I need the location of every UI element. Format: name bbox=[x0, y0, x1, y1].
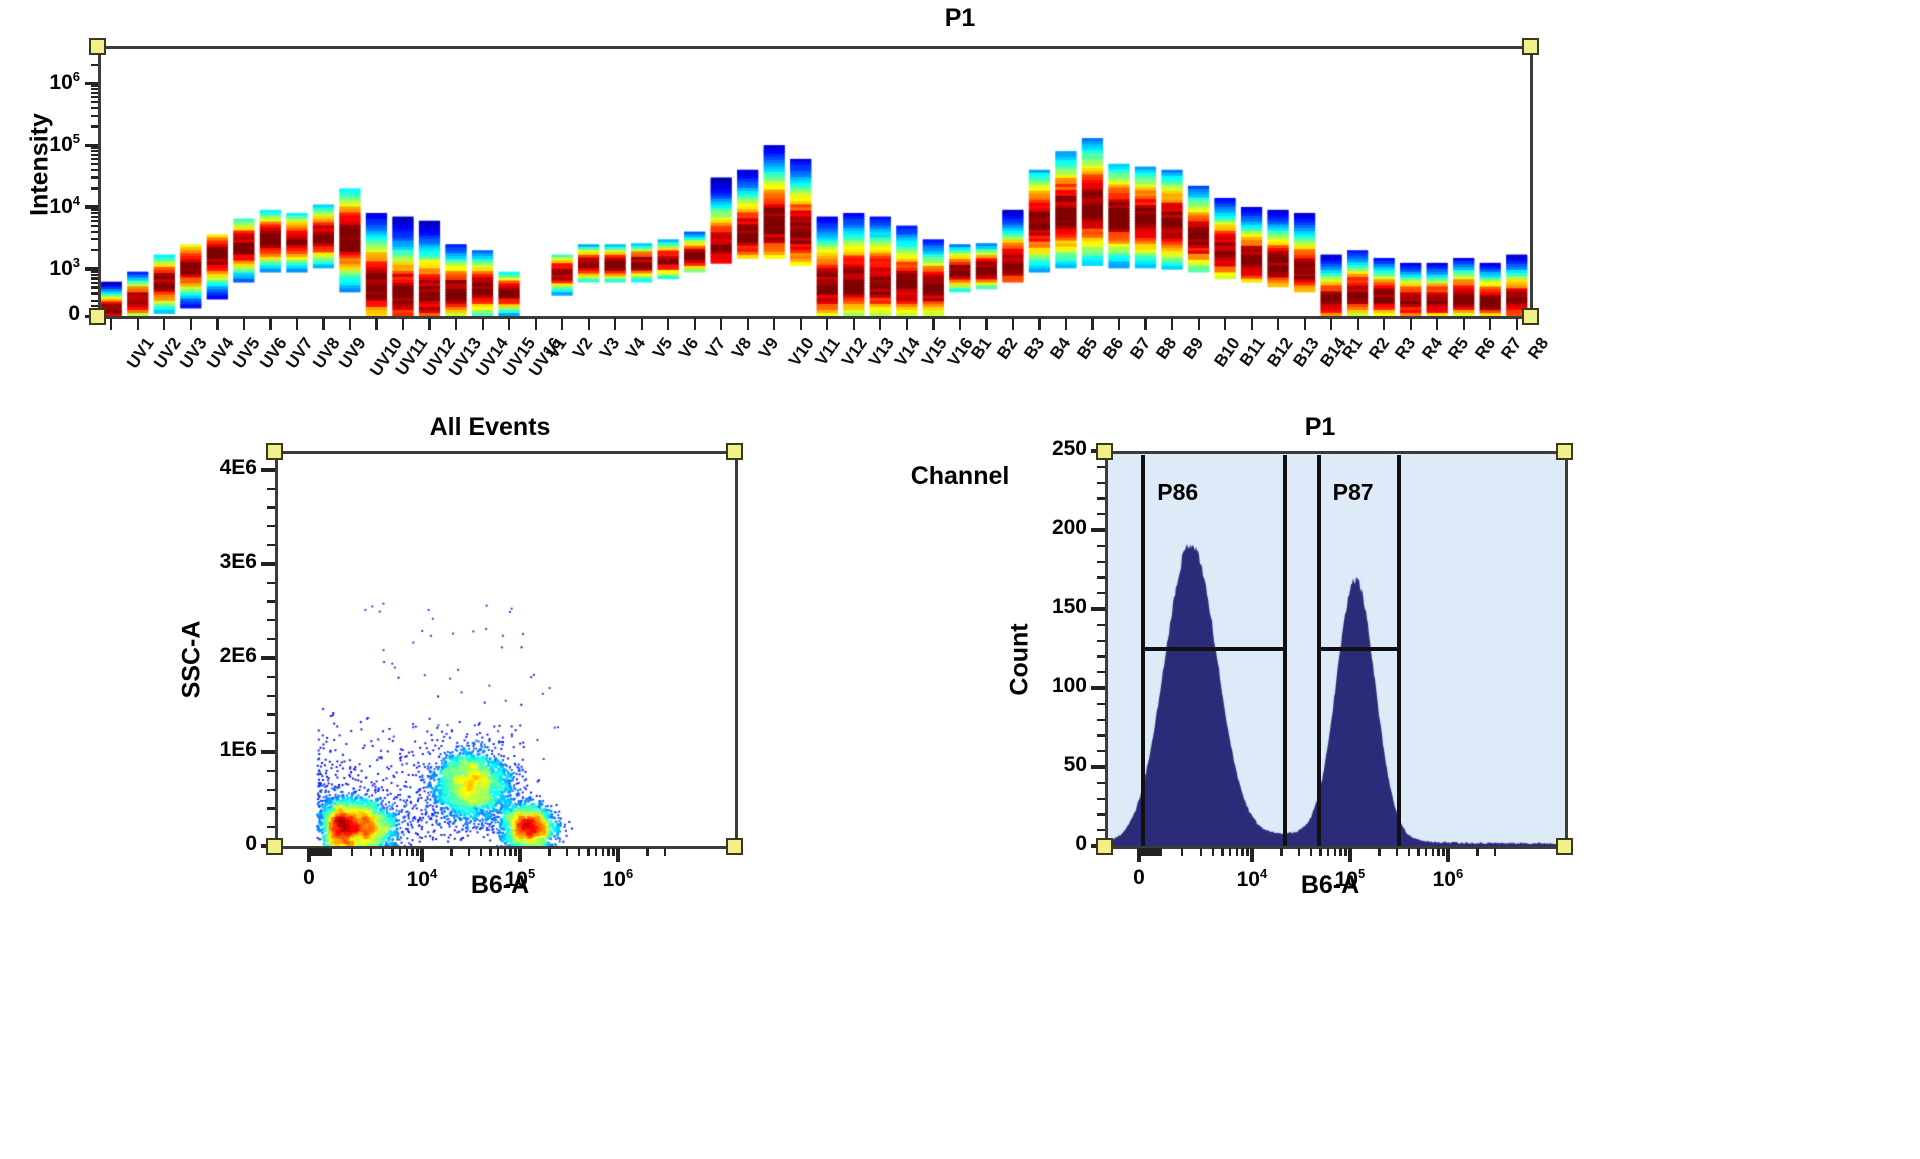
gate-p87-level-bar[interactable] bbox=[1319, 647, 1400, 651]
x-axis-minor-tick bbox=[1425, 848, 1427, 856]
channel-label-V8: V8 bbox=[728, 334, 756, 363]
x-axis-tick-label: 105 bbox=[480, 866, 560, 892]
y-axis-tick-label: 0 bbox=[1007, 832, 1087, 856]
gate-p86-right-handle[interactable] bbox=[1283, 455, 1287, 846]
y-axis-tick-label: 0 bbox=[68, 302, 80, 326]
y-axis-tick bbox=[261, 562, 275, 566]
y-axis-minor-tick bbox=[1097, 640, 1105, 642]
x-axis-minor-tick bbox=[1327, 848, 1329, 856]
channel-label-R7: R7 bbox=[1497, 334, 1526, 363]
plot-resize-handle-bottom-left[interactable] bbox=[89, 308, 106, 325]
x-axis-tick bbox=[1463, 318, 1465, 330]
channel-label-V3: V3 bbox=[595, 334, 623, 363]
y-axis-minor-tick bbox=[267, 826, 275, 828]
channel-label-R2: R2 bbox=[1365, 334, 1394, 363]
x-axis-tick bbox=[482, 318, 484, 330]
y-axis-tick-label: 150 bbox=[1007, 595, 1087, 619]
x-axis-tick-label: 106 bbox=[578, 866, 658, 892]
y-axis-tick bbox=[261, 656, 275, 660]
channel-label-B9: B9 bbox=[1179, 334, 1208, 363]
x-axis-minor-tick bbox=[411, 848, 413, 856]
y-axis-minor-tick bbox=[1097, 466, 1105, 468]
y-axis-minor-tick bbox=[1097, 671, 1105, 673]
y-axis-minor-tick bbox=[1097, 561, 1105, 563]
x-axis-tick bbox=[375, 318, 377, 330]
axis-line bbox=[1105, 451, 1108, 846]
scatter-plot-panel: All Events SSC-A B6-A 01E62E63E64E601041… bbox=[170, 405, 810, 945]
channel-label-R3: R3 bbox=[1391, 334, 1420, 363]
y-axis-tick bbox=[1091, 607, 1105, 611]
y-axis-minor-tick bbox=[1097, 750, 1105, 752]
y-axis-minor-tick bbox=[91, 300, 98, 302]
x-axis-tick bbox=[243, 318, 245, 330]
x-axis-tick bbox=[322, 318, 324, 330]
x-axis-minor-tick bbox=[1251, 848, 1253, 856]
y-axis-tick bbox=[1091, 765, 1105, 769]
y-axis-tick bbox=[1091, 528, 1105, 532]
x-axis-tick bbox=[588, 318, 590, 330]
axis-line bbox=[1530, 46, 1533, 316]
channel-label-V10: V10 bbox=[785, 334, 819, 370]
y-axis-minor-tick bbox=[91, 154, 98, 156]
y-axis-tick-label: 100 bbox=[1007, 674, 1087, 698]
x-axis-minor-tick bbox=[1494, 848, 1496, 856]
y-axis-minor-tick bbox=[91, 64, 98, 66]
x-axis-minor-tick bbox=[1160, 848, 1162, 856]
x-axis-tick-label: 0 bbox=[269, 866, 349, 890]
spectral-plot-panel: P1 Intensity Channel 0103104105106 UV1UV… bbox=[0, 0, 1920, 400]
y-axis-minor-tick bbox=[91, 249, 98, 251]
x-axis-tick bbox=[190, 318, 192, 330]
x-axis-tick bbox=[535, 318, 537, 330]
y-axis-minor-tick bbox=[1097, 513, 1105, 515]
scatter-density-canvas bbox=[275, 451, 735, 846]
x-axis-tick bbox=[1383, 318, 1385, 330]
y-axis-minor-tick bbox=[267, 506, 275, 508]
x-axis-minor-tick bbox=[548, 848, 550, 856]
y-axis-minor-tick bbox=[91, 225, 98, 227]
channel-label-V6: V6 bbox=[675, 334, 703, 363]
x-axis-minor-tick bbox=[421, 848, 423, 856]
channel-label-B3: B3 bbox=[1020, 334, 1049, 363]
x-axis-minor-tick bbox=[416, 848, 418, 856]
y-axis-minor-tick bbox=[91, 238, 98, 240]
y-axis-minor-tick bbox=[1097, 482, 1105, 484]
axis-line bbox=[1105, 451, 1565, 454]
channel-label-V14: V14 bbox=[891, 334, 925, 370]
y-axis-minor-tick bbox=[267, 544, 275, 546]
x-axis-tick bbox=[1304, 318, 1306, 330]
y-axis-minor-tick bbox=[267, 619, 275, 621]
axis-line bbox=[98, 46, 1530, 49]
x-axis-minor-tick bbox=[1476, 848, 1478, 856]
y-axis-tick-label: 104 bbox=[49, 193, 80, 219]
x-axis-minor-tick bbox=[489, 848, 491, 856]
x-axis-minor-tick bbox=[1437, 848, 1439, 856]
histogram-resize-handle-top-left[interactable] bbox=[1096, 443, 1113, 460]
y-axis-minor-tick bbox=[267, 582, 275, 584]
x-axis-tick bbox=[402, 318, 404, 330]
channel-label-B13: B13 bbox=[1289, 334, 1323, 371]
x-axis-tick bbox=[1410, 318, 1412, 330]
x-axis-tick-label: 0 bbox=[1099, 866, 1179, 890]
channel-label-R5: R5 bbox=[1444, 334, 1473, 363]
x-axis-minor-tick bbox=[468, 848, 470, 856]
y-axis-tick-label: 1E6 bbox=[175, 738, 257, 762]
histogram-resize-handle-top-right[interactable] bbox=[1556, 443, 1573, 460]
x-axis-tick bbox=[1224, 318, 1226, 330]
channel-label-R6: R6 bbox=[1471, 334, 1500, 363]
x-axis-minor-tick bbox=[1200, 848, 1202, 856]
y-axis-minor-tick bbox=[91, 125, 98, 127]
x-axis-minor-tick bbox=[1298, 848, 1300, 856]
gate-p87-right-handle[interactable] bbox=[1397, 455, 1401, 846]
x-axis-minor-tick bbox=[595, 848, 597, 856]
x-axis-tick bbox=[1171, 318, 1173, 330]
gate-label-p86[interactable]: P86 bbox=[1157, 479, 1198, 506]
x-axis-minor-tick bbox=[617, 848, 619, 856]
y-axis-minor-tick bbox=[1097, 703, 1105, 705]
y-axis-minor-tick bbox=[1097, 734, 1105, 736]
x-axis-minor-tick bbox=[1417, 848, 1419, 856]
x-axis-tick bbox=[1436, 318, 1438, 330]
y-axis-minor-tick bbox=[91, 115, 98, 117]
x-axis-minor-tick bbox=[1236, 848, 1238, 856]
x-axis-minor-tick bbox=[370, 848, 372, 856]
y-axis-minor-tick bbox=[267, 732, 275, 734]
plot-resize-handle-top-left[interactable] bbox=[89, 38, 106, 55]
histogram-title: P1 bbox=[1000, 413, 1640, 442]
channel-label-V2: V2 bbox=[569, 334, 597, 363]
y-axis-minor-tick bbox=[1097, 592, 1105, 594]
x-axis-minor-tick bbox=[382, 848, 384, 856]
gate-p87-left-handle[interactable] bbox=[1317, 455, 1321, 846]
channel-label-UV9: UV9 bbox=[336, 334, 371, 373]
y-axis-tick bbox=[261, 468, 275, 472]
x-axis-minor-tick bbox=[1408, 848, 1410, 856]
gate-p86-level-bar[interactable] bbox=[1143, 647, 1285, 651]
y-axis-minor-tick bbox=[1097, 624, 1105, 626]
channel-label-V12: V12 bbox=[838, 334, 872, 370]
y-axis-minor-tick bbox=[1097, 655, 1105, 657]
channel-label-V9: V9 bbox=[755, 334, 783, 363]
y-axis-minor-tick bbox=[91, 277, 98, 279]
y-axis-minor-tick bbox=[91, 292, 98, 294]
gate-p86-left-handle[interactable] bbox=[1141, 455, 1145, 846]
channel-label-R4: R4 bbox=[1418, 334, 1447, 363]
y-axis-minor-tick bbox=[91, 268, 98, 270]
x-axis-tick-label: 106 bbox=[1408, 866, 1488, 892]
y-axis-minor-tick bbox=[267, 638, 275, 640]
y-axis-minor-tick bbox=[91, 158, 98, 160]
x-axis-minor-tick bbox=[587, 848, 589, 856]
channel-label-B4: B4 bbox=[1047, 334, 1076, 363]
x-axis-tick bbox=[428, 318, 430, 330]
y-axis-minor-tick bbox=[1097, 497, 1105, 499]
x-axis-tick bbox=[1489, 318, 1491, 330]
y-axis-tick bbox=[1091, 686, 1105, 690]
x-axis-minor-tick bbox=[1442, 848, 1444, 856]
y-axis-minor-tick bbox=[91, 286, 98, 288]
y-axis-minor-tick bbox=[267, 807, 275, 809]
channel-label-B6: B6 bbox=[1100, 334, 1129, 363]
spectral-heatmap-canvas bbox=[98, 46, 1530, 316]
y-axis-minor-tick bbox=[91, 82, 98, 84]
spectral-plot-title: P1 bbox=[0, 4, 1920, 33]
x-axis-tick bbox=[1357, 318, 1359, 330]
x-axis-tick bbox=[800, 318, 802, 330]
x-axis-tick-label: 104 bbox=[1212, 866, 1292, 892]
channel-label-V5: V5 bbox=[648, 334, 676, 363]
axis-line bbox=[735, 451, 738, 846]
y-axis-minor-tick bbox=[267, 695, 275, 697]
x-axis-minor-tick bbox=[578, 848, 580, 856]
histogram-resize-handle-bottom-right[interactable] bbox=[1556, 838, 1573, 855]
x-axis-tick bbox=[110, 318, 112, 330]
y-axis-minor-tick bbox=[91, 216, 98, 218]
y-axis-minor-tick bbox=[91, 176, 98, 178]
x-axis-minor-tick bbox=[480, 848, 482, 856]
y-axis-minor-tick bbox=[1097, 545, 1105, 547]
scatter-resize-handle-top-right[interactable] bbox=[726, 443, 743, 460]
axis-line bbox=[1565, 451, 1568, 846]
x-axis-tick bbox=[853, 318, 855, 330]
y-axis-minor-tick bbox=[91, 92, 98, 94]
scatter-resize-handle-bottom-right[interactable] bbox=[726, 838, 743, 855]
x-axis-tick bbox=[667, 318, 669, 330]
x-axis-tick bbox=[694, 318, 696, 330]
x-axis-tick bbox=[1118, 318, 1120, 330]
channel-label-B1: B1 bbox=[967, 334, 996, 363]
axis-line bbox=[98, 46, 101, 316]
x-axis-minor-tick bbox=[1212, 848, 1214, 856]
y-axis-minor-tick bbox=[1097, 813, 1105, 815]
x-axis-minor-tick bbox=[1349, 848, 1351, 856]
x-axis-minor-tick bbox=[1246, 848, 1248, 856]
x-axis-minor-tick bbox=[1344, 848, 1346, 856]
y-axis-tick bbox=[261, 750, 275, 754]
scatter-resize-handle-bottom-left[interactable] bbox=[266, 838, 283, 855]
y-axis-minor-tick bbox=[91, 212, 98, 214]
x-axis-tick bbox=[137, 318, 139, 330]
x-axis-tick bbox=[720, 318, 722, 330]
channel-label-V13: V13 bbox=[865, 334, 899, 370]
channel-label-B12: B12 bbox=[1263, 334, 1297, 371]
x-axis-tick bbox=[1038, 318, 1040, 330]
y-axis-tick-label: 103 bbox=[49, 255, 80, 281]
x-axis-minor-tick bbox=[1280, 848, 1282, 856]
y-axis-minor-tick bbox=[91, 163, 98, 165]
y-axis-minor-tick bbox=[1097, 829, 1105, 831]
channel-label-UV3: UV3 bbox=[176, 334, 211, 373]
x-axis-minor-tick bbox=[1241, 848, 1243, 856]
x-axis-minor-tick bbox=[509, 848, 511, 856]
x-axis-tick bbox=[163, 318, 165, 330]
x-axis-minor-tick bbox=[602, 848, 604, 856]
x-axis-minor-tick bbox=[1378, 848, 1380, 856]
y-axis-minor-tick bbox=[91, 101, 98, 103]
channel-label-B2: B2 bbox=[994, 334, 1023, 363]
y-axis-minor-tick bbox=[267, 676, 275, 678]
x-axis-minor-tick bbox=[1181, 848, 1183, 856]
x-axis-minor-tick bbox=[1432, 848, 1434, 856]
x-axis-tick-label: 105 bbox=[1310, 866, 1390, 892]
y-axis-minor-tick bbox=[91, 274, 98, 276]
channel-label-B8: B8 bbox=[1153, 334, 1182, 363]
x-axis-minor-tick bbox=[566, 848, 568, 856]
x-axis-tick bbox=[1516, 318, 1518, 330]
y-axis-minor-tick bbox=[267, 488, 275, 490]
x-axis-minor-tick bbox=[1447, 848, 1449, 856]
y-axis-minor-tick bbox=[91, 305, 98, 307]
axis-line bbox=[98, 316, 1530, 319]
histogram-resize-handle-bottom-left[interactable] bbox=[1096, 838, 1113, 855]
x-axis-minor-tick bbox=[391, 848, 393, 856]
x-axis-tick bbox=[1277, 318, 1279, 330]
x-axis-minor-tick bbox=[399, 848, 401, 856]
y-axis-minor-tick bbox=[91, 169, 98, 171]
x-axis-tick bbox=[641, 318, 643, 330]
x-axis-tick bbox=[1091, 318, 1093, 330]
y-axis-minor-tick bbox=[1097, 782, 1105, 784]
y-axis-minor-tick bbox=[91, 220, 98, 222]
y-axis-tick-label: 200 bbox=[1007, 516, 1087, 540]
x-axis-tick bbox=[614, 318, 616, 330]
x-axis-minor-tick bbox=[1339, 848, 1341, 856]
x-axis-minor-tick bbox=[1221, 848, 1223, 856]
y-axis-minor-tick bbox=[91, 282, 98, 284]
scatter-resize-handle-top-left[interactable] bbox=[266, 443, 283, 460]
scatter-plot-title: All Events bbox=[170, 413, 810, 442]
y-axis-minor-tick bbox=[91, 150, 98, 152]
x-axis-tick bbox=[932, 318, 934, 330]
y-axis-tick-label: 3E6 bbox=[175, 550, 257, 574]
x-axis-minor-tick bbox=[1319, 848, 1321, 856]
x-axis-minor-tick bbox=[612, 848, 614, 856]
x-axis-minor-tick bbox=[664, 848, 666, 856]
x-axis-tick bbox=[1065, 318, 1067, 330]
plot-resize-handle-bottom-right[interactable] bbox=[1522, 308, 1539, 325]
y-axis-minor-tick bbox=[91, 187, 98, 189]
x-axis-tick bbox=[216, 318, 218, 330]
channel-label-B5: B5 bbox=[1073, 334, 1102, 363]
y-axis-minor-tick bbox=[1097, 719, 1105, 721]
y-axis-minor-tick bbox=[91, 206, 98, 208]
channel-label-B11: B11 bbox=[1236, 334, 1270, 370]
y-axis-minor-tick bbox=[91, 107, 98, 109]
y-axis-minor-tick bbox=[267, 600, 275, 602]
y-axis-minor-tick bbox=[1097, 798, 1105, 800]
x-axis-tick-label: 104 bbox=[382, 866, 462, 892]
x-axis-tick bbox=[269, 318, 271, 330]
x-axis-minor-tick bbox=[514, 848, 516, 856]
gate-label-p87[interactable]: P87 bbox=[1333, 479, 1374, 506]
y-axis-minor-tick bbox=[91, 271, 98, 273]
x-axis-tick bbox=[879, 318, 881, 330]
x-axis-minor-tick bbox=[504, 848, 506, 856]
y-axis-minor-tick bbox=[267, 525, 275, 527]
x-axis-tick bbox=[826, 318, 828, 330]
y-axis-tick-label: 250 bbox=[1007, 437, 1087, 461]
x-axis-minor-tick bbox=[1396, 848, 1398, 856]
y-axis-tick-label: 50 bbox=[1007, 753, 1087, 777]
x-axis-minor-tick bbox=[450, 848, 452, 856]
y-axis-tick-label: 0 bbox=[175, 832, 257, 856]
axis-line bbox=[275, 451, 278, 846]
x-axis-tick bbox=[508, 318, 510, 330]
channel-label-R8: R8 bbox=[1524, 334, 1553, 363]
y-axis-minor-tick bbox=[91, 147, 98, 149]
x-axis-tick bbox=[455, 318, 457, 330]
x-axis-tick bbox=[773, 318, 775, 330]
x-axis-tick bbox=[747, 318, 749, 330]
channel-label-B7: B7 bbox=[1126, 334, 1155, 363]
channel-label-V7: V7 bbox=[702, 334, 730, 363]
x-axis-minor-tick bbox=[519, 848, 521, 856]
x-axis-minor-tick bbox=[497, 848, 499, 856]
y-axis-tick-label: 2E6 bbox=[175, 644, 257, 668]
y-axis-tick-label: 106 bbox=[49, 69, 80, 95]
x-axis-tick bbox=[1198, 318, 1200, 330]
x-axis-tick bbox=[1251, 318, 1253, 330]
y-axis-minor-tick bbox=[267, 713, 275, 715]
channel-label-R1: R1 bbox=[1338, 334, 1367, 363]
channel-label-V4: V4 bbox=[622, 334, 650, 363]
channel-label-UV1: UV1 bbox=[123, 334, 158, 373]
x-axis-tick bbox=[959, 318, 961, 330]
x-axis-tick bbox=[1144, 318, 1146, 330]
x-axis-minor-tick bbox=[607, 848, 609, 856]
x-axis-minor-tick bbox=[406, 848, 408, 856]
y-axis-minor-tick bbox=[91, 209, 98, 211]
histogram-panel: P1 Count B6-A 0501001502002500104105106 … bbox=[1000, 405, 1680, 945]
x-axis-minor-tick bbox=[646, 848, 648, 856]
x-axis-tick bbox=[1330, 318, 1332, 330]
x-axis-tick bbox=[906, 318, 908, 330]
channel-label-V11: V11 bbox=[811, 334, 844, 369]
y-axis-minor-tick bbox=[1097, 576, 1105, 578]
y-axis-minor-tick bbox=[91, 144, 98, 146]
y-axis-minor-tick bbox=[91, 96, 98, 98]
y-axis-tick-label: 105 bbox=[49, 131, 80, 157]
channel-label-UV7: UV7 bbox=[282, 334, 317, 373]
y-axis-minor-tick bbox=[267, 789, 275, 791]
x-axis-tick bbox=[349, 318, 351, 330]
plot-resize-handle-top-right[interactable] bbox=[1522, 38, 1539, 55]
y-axis-minor-tick bbox=[91, 88, 98, 90]
channel-label-V15: V15 bbox=[918, 334, 952, 370]
x-axis-tick bbox=[561, 318, 563, 330]
x-axis-tick bbox=[296, 318, 298, 330]
x-axis-minor-tick bbox=[1229, 848, 1231, 856]
y-axis-tick-label: 4E6 bbox=[175, 456, 257, 480]
x-axis-minor-tick bbox=[351, 848, 353, 856]
channel-label-UV5: UV5 bbox=[229, 334, 264, 373]
x-axis-minor-tick bbox=[1310, 848, 1312, 856]
x-axis-tick bbox=[1012, 318, 1014, 330]
x-axis-minor-tick bbox=[330, 848, 332, 856]
y-axis-minor-tick bbox=[91, 231, 98, 233]
x-axis-minor-tick bbox=[1334, 848, 1336, 856]
y-axis-minor-tick bbox=[91, 85, 98, 87]
x-axis-tick bbox=[985, 318, 987, 330]
axis-line bbox=[275, 451, 735, 454]
y-axis-minor-tick bbox=[267, 770, 275, 772]
